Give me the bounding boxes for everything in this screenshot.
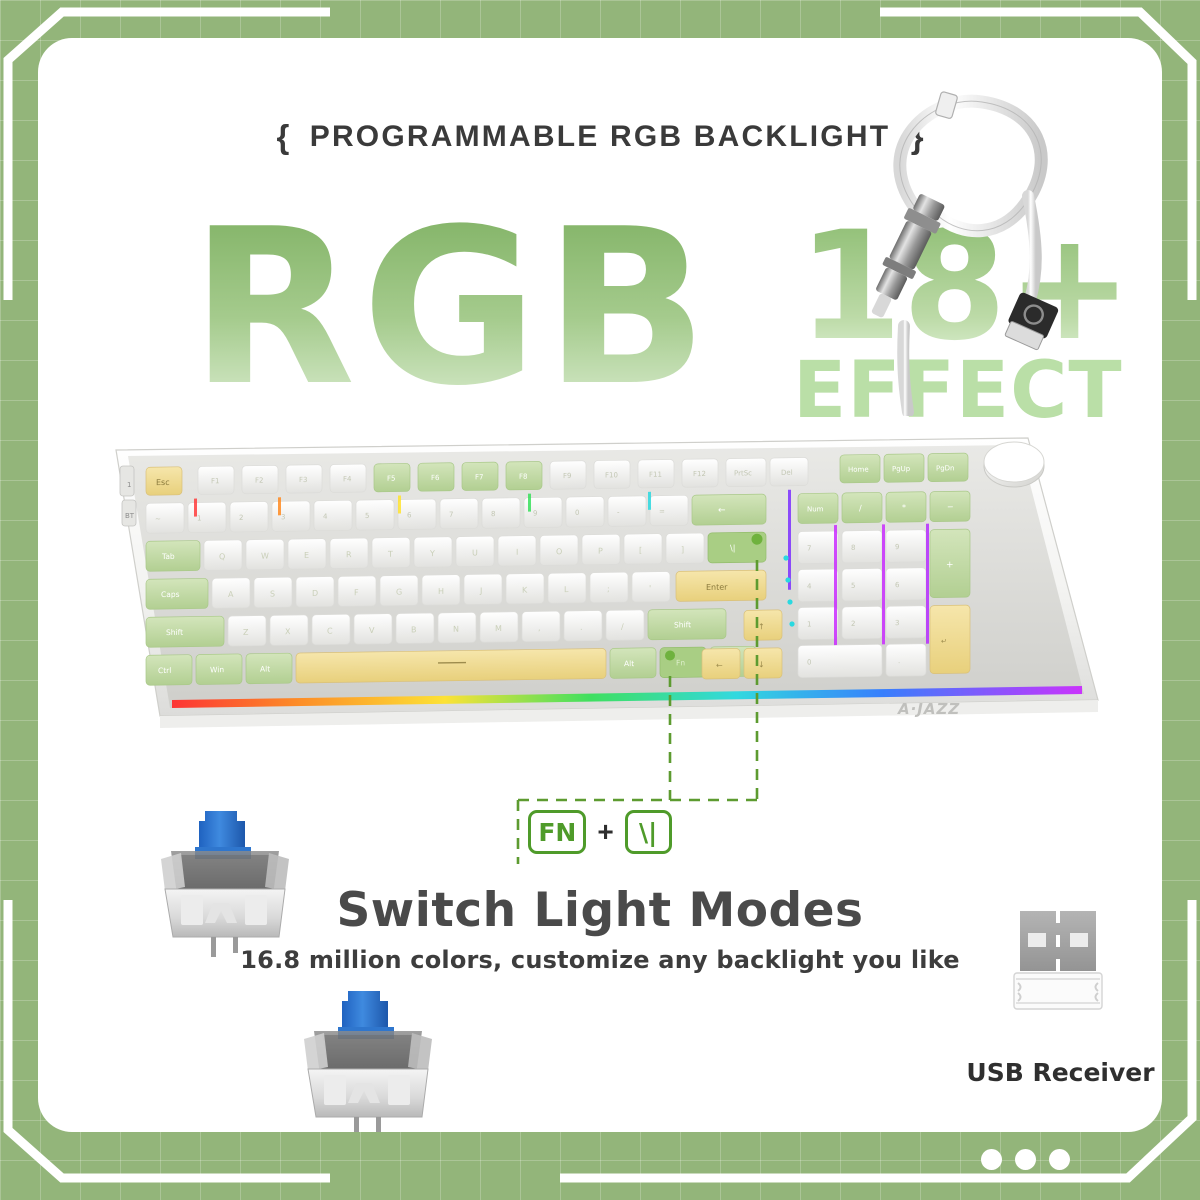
svg-text:7: 7 <box>807 544 811 552</box>
svg-text:0: 0 <box>807 658 811 666</box>
svg-text:3: 3 <box>895 619 899 627</box>
svg-text:↓: ↓ <box>758 660 765 669</box>
svg-text:U: U <box>472 548 478 557</box>
svg-text:I: I <box>516 548 518 557</box>
brace-open-icon: { <box>276 118 289 155</box>
svg-text:N: N <box>453 625 459 634</box>
svg-text:B: B <box>411 625 416 634</box>
svg-text:V: V <box>369 626 375 635</box>
volume-knob-icon <box>984 442 1044 487</box>
svg-text:=: = <box>659 508 665 516</box>
svg-text:F4: F4 <box>343 475 352 483</box>
svg-text:PgUp: PgUp <box>892 465 911 473</box>
svg-text:F5: F5 <box>387 475 395 483</box>
svg-text:J: J <box>479 586 482 595</box>
svg-text:BT: BT <box>125 512 135 520</box>
badge-backslash-key[interactable]: \| <box>625 810 672 854</box>
svg-text:9: 9 <box>533 509 537 517</box>
pagination-dot-1[interactable] <box>981 1149 1002 1170</box>
svg-text:F10: F10 <box>605 471 618 479</box>
svg-text:F6: F6 <box>431 474 440 482</box>
svg-text:X: X <box>285 627 291 636</box>
svg-text:L: L <box>564 585 569 594</box>
svg-text:←: ← <box>718 506 726 516</box>
svg-text:Tab: Tab <box>161 552 175 561</box>
svg-text:Num: Num <box>807 505 824 513</box>
svg-text:E: E <box>304 551 309 560</box>
svg-text:Alt: Alt <box>624 659 634 668</box>
svg-text:5: 5 <box>851 582 855 590</box>
svg-text:]: ] <box>681 545 684 554</box>
usb-receiver-label: USB Receiver <box>918 1058 1162 1087</box>
svg-text:F11: F11 <box>649 471 662 479</box>
svg-text:Shift: Shift <box>166 628 183 637</box>
svg-text:K: K <box>522 586 528 595</box>
svg-text:1: 1 <box>197 514 201 522</box>
svg-text:Del: Del <box>781 469 793 477</box>
svg-text:Shift: Shift <box>674 620 691 629</box>
svg-text:*: * <box>902 503 906 512</box>
svg-text:W: W <box>261 551 269 560</box>
pagination-dot-2[interactable] <box>1015 1149 1036 1170</box>
svg-text:F12: F12 <box>693 470 706 478</box>
svg-text:8: 8 <box>491 510 495 518</box>
svg-text:.: . <box>580 623 583 632</box>
mechanical-switch-image-2 <box>276 983 461 1132</box>
svg-text:/: / <box>859 504 862 513</box>
svg-text:Z: Z <box>243 628 249 637</box>
svg-text:Q: Q <box>219 552 225 561</box>
svg-text:4: 4 <box>807 582 812 590</box>
svg-text:.: . <box>898 657 900 665</box>
svg-text:F: F <box>354 588 359 597</box>
svg-text:9: 9 <box>895 543 899 551</box>
svg-text:[: [ <box>639 546 642 555</box>
svg-text:PrtSc: PrtSc <box>734 469 752 477</box>
svg-text:PgDn: PgDn <box>936 464 954 472</box>
svg-text:Win: Win <box>210 665 224 674</box>
svg-text:↑: ↑ <box>758 622 765 631</box>
svg-text:O: O <box>556 547 562 556</box>
pagination-dot-3[interactable] <box>1049 1149 1070 1170</box>
mechanical-switch-image-1 <box>133 803 318 963</box>
svg-text:Esc: Esc <box>156 478 170 487</box>
badge-fn-key[interactable]: FN <box>528 810 586 854</box>
svg-text:1: 1 <box>807 620 811 628</box>
svg-text:Alt: Alt <box>260 664 270 673</box>
svg-text:Caps: Caps <box>161 590 180 599</box>
svg-text:2: 2 <box>239 514 243 522</box>
svg-text:/: / <box>621 622 624 631</box>
svg-text:←: ← <box>716 661 723 670</box>
content-card: { PROGRAMMABLE RGB BACKLIGHT } RGB 18+ E… <box>38 38 1162 1132</box>
svg-text:1: 1 <box>127 481 131 489</box>
svg-text:S: S <box>270 589 275 598</box>
svg-text:6: 6 <box>407 511 412 519</box>
svg-text:Enter: Enter <box>706 583 728 592</box>
svg-text:,: , <box>538 623 541 632</box>
svg-text:Ctrl: Ctrl <box>158 666 171 675</box>
svg-text:~: ~ <box>155 515 161 523</box>
svg-text:H: H <box>438 587 444 596</box>
usb-receiver-image <box>998 903 1118 1038</box>
headline-text: PROGRAMMABLE RGB BACKLIGHT <box>310 120 891 153</box>
plus-symbol: + <box>597 816 613 848</box>
svg-text:2: 2 <box>851 620 855 628</box>
coiled-usb-cable-image <box>852 76 1082 416</box>
svg-text:F8: F8 <box>519 473 527 481</box>
wordmark-rgb: RGB <box>190 200 714 415</box>
svg-text:G: G <box>396 587 402 596</box>
keyboard-brand-logo: A·JAZZ <box>897 700 960 718</box>
svg-text:M: M <box>495 624 502 633</box>
svg-text:4: 4 <box>323 513 328 521</box>
svg-text:F2: F2 <box>255 477 263 485</box>
svg-text:Y: Y <box>429 549 435 558</box>
svg-text:F1: F1 <box>211 477 219 485</box>
svg-text:D: D <box>312 589 318 598</box>
svg-text:0: 0 <box>575 509 579 517</box>
svg-text:6: 6 <box>895 581 900 589</box>
svg-text:5: 5 <box>365 512 369 520</box>
svg-text:P: P <box>598 547 603 556</box>
pagination-dots[interactable] <box>981 1149 1070 1170</box>
svg-text:R: R <box>346 550 352 559</box>
svg-text:T: T <box>387 550 393 559</box>
svg-text:F9: F9 <box>563 472 571 480</box>
svg-text:−: − <box>947 502 954 511</box>
svg-text:A: A <box>228 590 234 599</box>
svg-text:Fn: Fn <box>676 658 685 667</box>
keyboard-product-image: 1 BT Esc F1 F2 F3 F4 <box>98 408 1108 738</box>
svg-text:C: C <box>327 627 333 636</box>
svg-text:': ' <box>649 584 651 593</box>
svg-text:\|: \| <box>730 544 735 553</box>
svg-text:3: 3 <box>281 513 285 521</box>
svg-text:+: + <box>946 560 954 570</box>
svg-text:F3: F3 <box>299 476 307 484</box>
svg-text:;: ; <box>607 584 610 593</box>
svg-text:F7: F7 <box>475 473 483 481</box>
svg-text:8: 8 <box>851 544 855 552</box>
svg-text:7: 7 <box>449 511 453 519</box>
svg-text:↵: ↵ <box>941 637 947 645</box>
svg-text:Home: Home <box>848 466 869 474</box>
